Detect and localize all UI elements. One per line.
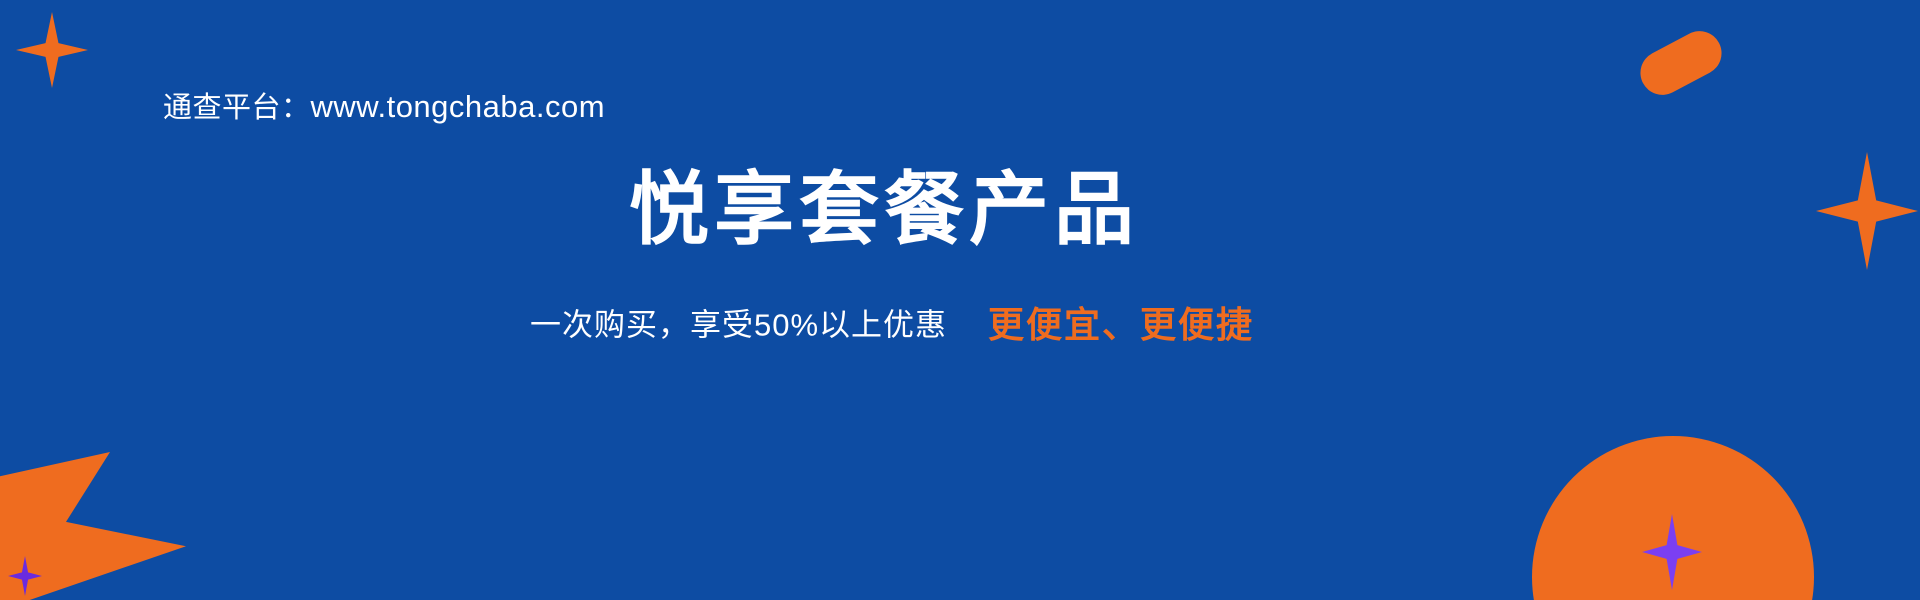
subtitle-primary-text: 一次购买，享受50%以上优惠 <box>530 308 947 343</box>
subtitle-row: 一次购买，享受50%以上优惠 更便宜、更便捷 <box>0 296 1920 348</box>
promo-banner: 通查平台：www.tongchaba.com 悦享套餐产品 一次购买，享受50%… <box>0 0 1920 600</box>
platform-url[interactable]: www.tongchaba.com <box>311 89 606 124</box>
platform-url-line: 通查平台：www.tongchaba.com <box>163 86 605 129</box>
page-title: 悦享套餐产品 <box>0 162 1920 258</box>
platform-label: 通查平台： <box>163 92 311 124</box>
subtitle-highlight-text: 更便宜、更便捷 <box>988 304 1254 345</box>
